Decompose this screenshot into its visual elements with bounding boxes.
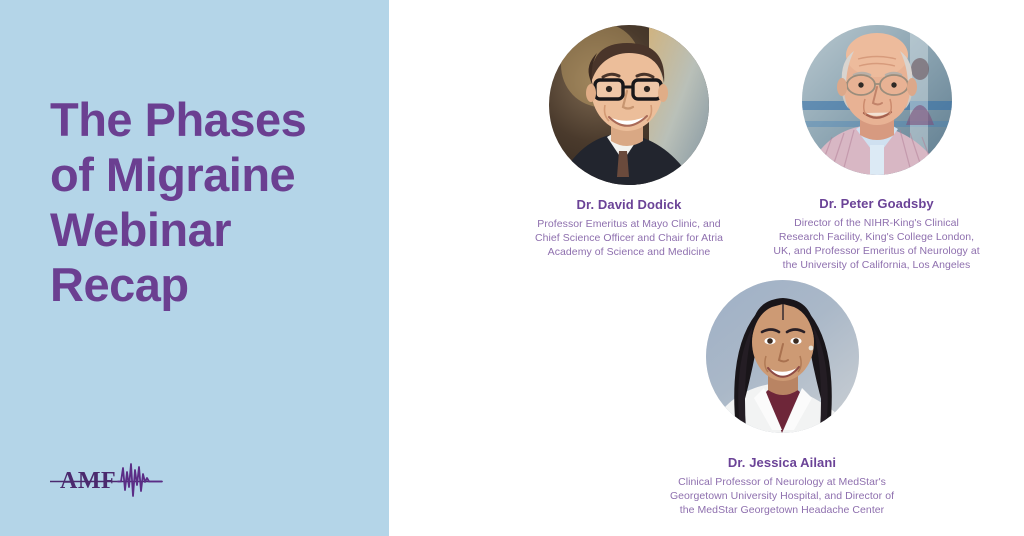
speaker-name: Dr. Jessica Ailani xyxy=(617,455,947,471)
avatar xyxy=(706,280,859,433)
title-line-3: Webinar xyxy=(50,202,370,257)
bio-line: the University of California, Los Angele… xyxy=(729,258,1024,272)
amf-logo: AMF xyxy=(48,458,173,502)
bio-line: Director of the NIHR-King's Clinical xyxy=(729,216,1024,230)
avatar xyxy=(802,25,952,175)
speaker-bio: Clinical Professor of Neurology at MedSt… xyxy=(617,475,947,517)
left-title-panel: The Phases of Migraine Webinar Recap AMF xyxy=(0,0,389,536)
title-line-4: Recap xyxy=(50,257,370,312)
title-line-1: The Phases xyxy=(50,92,370,147)
bio-line: Georgetown University Hospital, and Dire… xyxy=(617,489,947,503)
bio-line: Clinical Professor of Neurology at MedSt… xyxy=(617,475,947,489)
avatar xyxy=(549,25,709,185)
webinar-recap-slide: The Phases of Migraine Webinar Recap AMF xyxy=(0,0,1024,536)
speaker-card-ailani: Dr. Jessica Ailani Clinical Professor of… xyxy=(617,280,947,517)
speaker-bio: Director of the NIHR-King's Clinical Res… xyxy=(729,216,1024,272)
bio-line: UK, and Professor Emeritus of Neurology … xyxy=(729,244,1024,258)
bio-line: Research Facility, King's College London… xyxy=(729,230,1024,244)
speaker-card-goadsby: Dr. Peter Goadsby Director of the NIHR-K… xyxy=(729,25,1024,272)
speaker-name: Dr. Peter Goadsby xyxy=(729,196,1024,212)
title-line-2: of Migraine xyxy=(50,147,370,202)
page-title: The Phases of Migraine Webinar Recap xyxy=(50,92,370,312)
speakers-panel: Dr. David Dodick Professor Emeritus at M… xyxy=(389,0,1024,536)
bio-line: the MedStar Georgetown Headache Center xyxy=(617,503,947,517)
svg-text:AMF: AMF xyxy=(60,468,116,494)
